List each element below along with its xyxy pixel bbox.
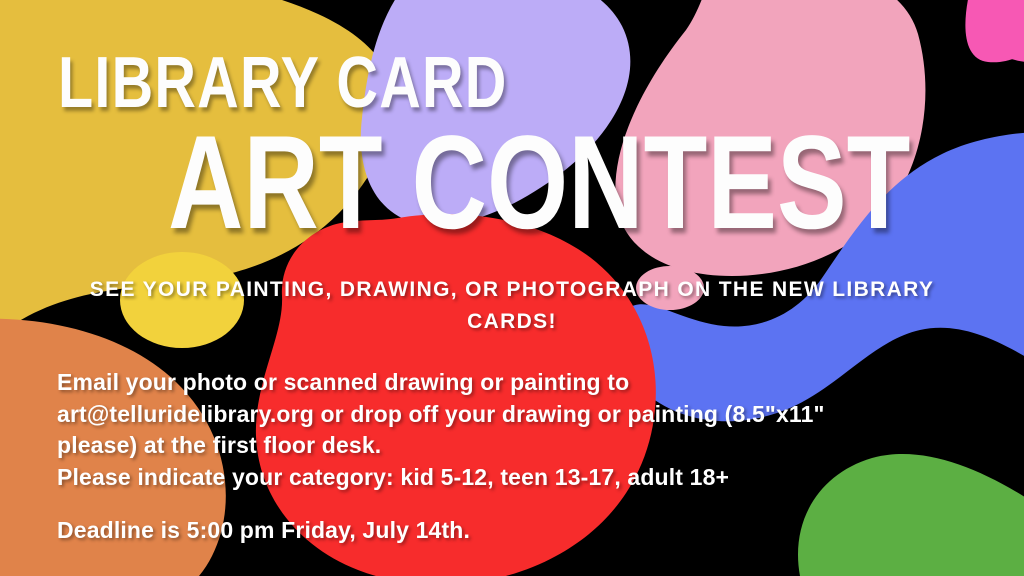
poster-deadline-text: Deadline is 5:00 pm Friday, July 14th. — [57, 515, 470, 547]
poster-body-text: Email your photo or scanned drawing or p… — [57, 367, 977, 493]
poster-kicker: LIBRARY CARD — [58, 50, 508, 116]
page-title: ART CONTEST — [168, 122, 910, 244]
poster-subheading: SEE YOUR PAINTING, DRAWING, OR PHOTOGRAP… — [0, 274, 1024, 337]
library-card-art-contest-poster: LIBRARY CARD ART CONTEST SEE YOUR PAINTI… — [0, 0, 1024, 576]
poster-text-layer: LIBRARY CARD ART CONTEST SEE YOUR PAINTI… — [0, 0, 1024, 576]
